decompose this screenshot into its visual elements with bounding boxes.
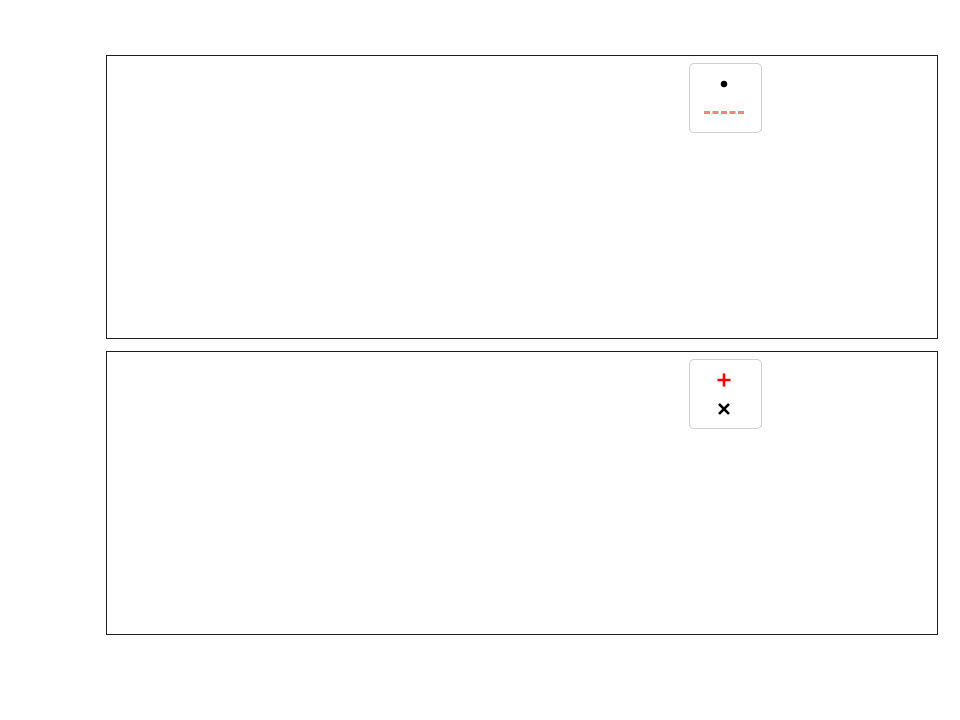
plus-icon [700, 372, 748, 388]
top-axes [106, 55, 938, 339]
legend-item-measurements [700, 71, 748, 96]
legend-item-threshold [700, 100, 748, 125]
top-legend [689, 63, 762, 133]
dot-icon [700, 77, 748, 91]
bottom-axes [106, 351, 938, 635]
legend-item-predicted-stars [700, 396, 748, 421]
cross-icon [700, 401, 748, 417]
bottom-plot-surface [107, 352, 937, 634]
figure-root [0, 0, 960, 720]
dashed-line-icon [700, 111, 748, 114]
legend-item-matched-stars [700, 367, 748, 392]
bottom-legend [689, 359, 762, 429]
top-plot-surface [107, 56, 937, 338]
